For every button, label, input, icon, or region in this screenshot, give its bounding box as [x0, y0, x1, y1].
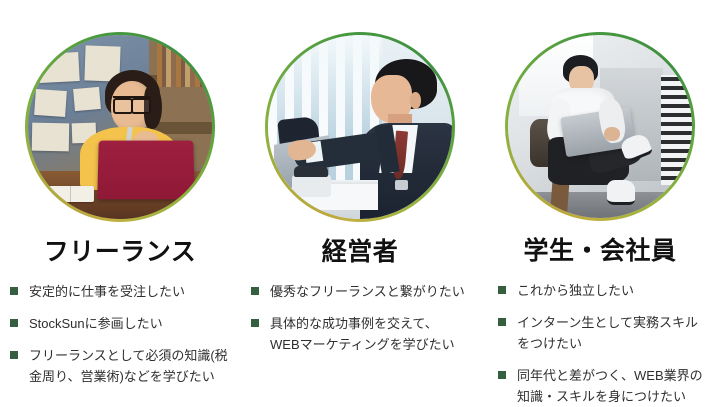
persona-title-freelance: フリーランス — [44, 238, 197, 267]
list-item: StockSunに参画したい — [10, 313, 228, 334]
list-item-text: これから独立したい — [517, 283, 634, 298]
photo-scene-manager — [268, 35, 452, 219]
list-item-text: 同年代と差がつく、WEB業界の知識・スキルを身につけたい — [517, 368, 703, 404]
persona-photo-ring-student — [505, 32, 695, 221]
list-item: 同年代と差がつく、WEB業界の知識・スキルを身につけたい — [498, 365, 710, 407]
square-bullet-icon — [10, 351, 18, 359]
photo-scene-student — [508, 35, 692, 218]
hand — [604, 127, 621, 142]
desk-phone — [292, 175, 331, 197]
books — [157, 42, 209, 86]
square-bullet-icon — [10, 319, 18, 327]
businessman-in-office-photo — [268, 35, 452, 219]
list-item-text: 優秀なフリーランスと繋がりたい — [270, 284, 465, 299]
white-sneaker — [607, 180, 635, 205]
list-item-text: 安定的に仕事を受注したい — [29, 284, 185, 299]
persona-photo-ring-freelance — [25, 32, 215, 222]
striped-wall — [661, 75, 692, 185]
floor — [508, 192, 692, 218]
list-item: インターン生として実務スキルをつけたい — [498, 312, 710, 354]
square-bullet-icon — [498, 318, 506, 326]
square-bullet-icon — [251, 287, 259, 295]
list-item: これから独立したい — [498, 280, 710, 301]
list-item-text: フリーランスとして必須の知識(税金周り、営業術)などを学びたい — [29, 348, 228, 384]
student-with-laptop-photo — [508, 35, 692, 218]
wristwatch — [395, 180, 408, 189]
persona-column-manager: 経営者 優秀なフリーランスと繋がりたい 具体的な成功事例を交えて、WEBマーケテ… — [240, 0, 480, 407]
persona-title-student-employee: 学生・会社員 — [523, 237, 676, 266]
square-bullet-icon — [251, 319, 259, 327]
list-item-text: インターン生として実務スキルをつけたい — [517, 315, 698, 351]
red-laptop — [97, 140, 194, 199]
list-item: 安定的に仕事を受注したい — [10, 281, 228, 302]
photo-scene-freelance — [28, 35, 212, 219]
persona-column-student-employee: 学生・会社員 これから独立したい インターン生として実務スキルをつけたい 同年代… — [480, 0, 720, 407]
persona-bullet-list-manager: 優秀なフリーランスと繋がりたい 具体的な成功事例を交えて、WEBマーケティングを… — [240, 281, 480, 355]
freelance-woman-at-laptop-photo — [28, 35, 212, 219]
square-bullet-icon — [10, 287, 18, 295]
list-item: 優秀なフリーランスと繋がりたい — [251, 281, 466, 302]
list-item-text: StockSunに参画したい — [29, 316, 163, 331]
persona-photo-ring-manager — [265, 32, 455, 222]
glasses-icon — [113, 96, 152, 110]
open-notebook — [46, 186, 94, 203]
list-item: フリーランスとして必須の知識(税金周り、営業術)などを学びたい — [10, 345, 228, 387]
persona-column-freelance: フリーランス 安定的に仕事を受注したい StockSunに参画したい フリーラン… — [0, 0, 240, 407]
persona-bullet-list-freelance: 安定的に仕事を受注したい StockSunに参画したい フリーランスとして必須の… — [0, 281, 240, 387]
persona-bullet-list-student: これから独立したい インターン生として実務スキルをつけたい 同年代と差がつく、W… — [480, 280, 720, 407]
list-item: 具体的な成功事例を交えて、WEBマーケティングを学びたい — [251, 313, 466, 355]
square-bullet-icon — [498, 286, 506, 294]
ear — [410, 92, 421, 109]
list-item-text: 具体的な成功事例を交えて、WEBマーケティングを学びたい — [270, 316, 455, 352]
persona-columns-board: フリーランス 安定的に仕事を受注したい StockSunに参画したい フリーラン… — [0, 0, 720, 407]
square-bullet-icon — [498, 371, 506, 379]
persona-title-manager: 経営者 — [322, 238, 399, 267]
